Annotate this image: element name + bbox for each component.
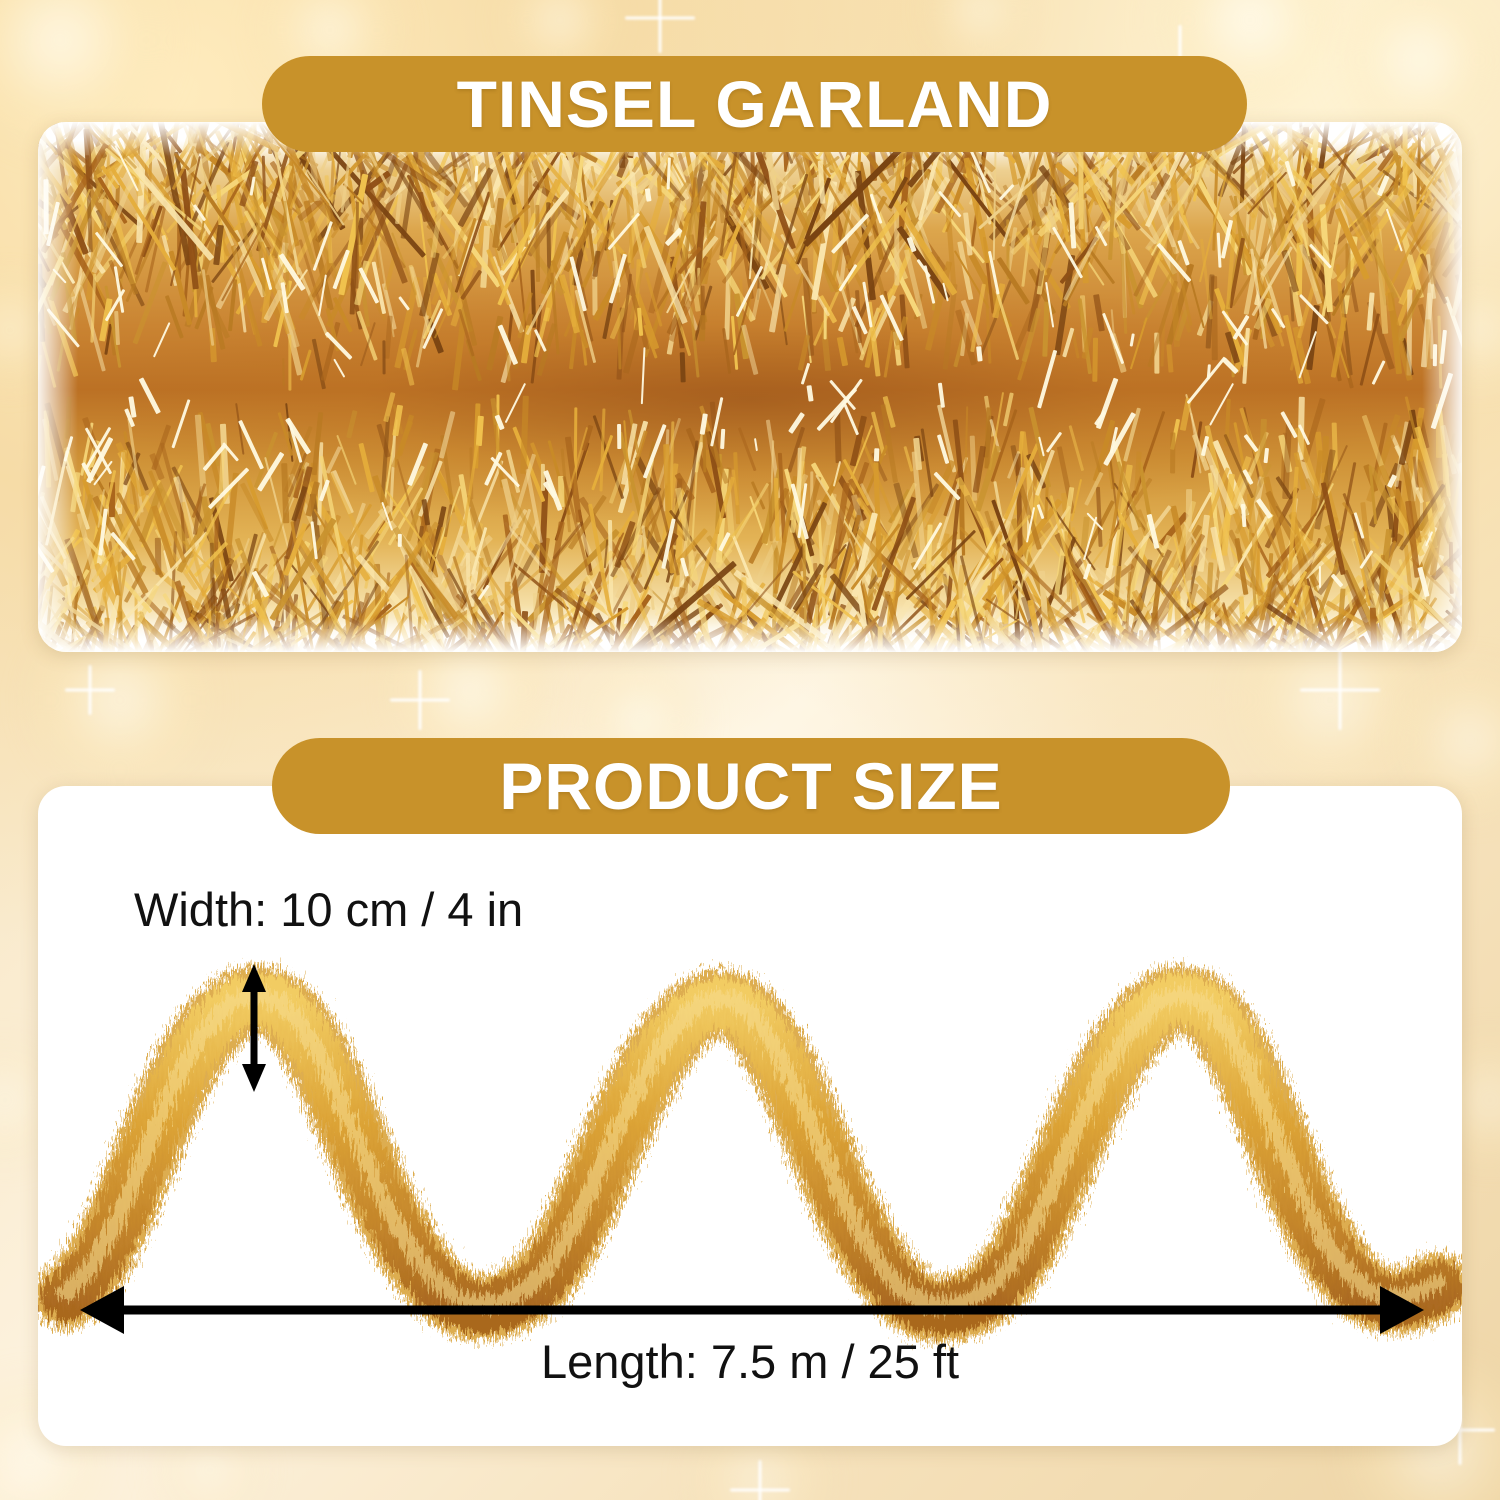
- section-header-tinsel-garland: TINSEL GARLAND: [262, 56, 1247, 152]
- width-arrow-head-bottom: [242, 1064, 266, 1092]
- size-diagram: Width: 10 cm / 4 in Length: 7.5 m / 25 f…: [38, 786, 1462, 1446]
- product-size-panel: Width: 10 cm / 4 in Length: 7.5 m / 25 f…: [38, 786, 1462, 1446]
- section-header-product-size-label: PRODUCT SIZE: [499, 748, 1002, 824]
- length-arrow-head-left: [80, 1286, 124, 1334]
- width-label: Width: 10 cm / 4 in: [134, 882, 523, 937]
- length-label: Length: 7.5 m / 25 ft: [38, 1334, 1462, 1389]
- tinsel-strands: [38, 122, 1462, 652]
- width-arrow-head-top: [242, 964, 266, 992]
- section-header-product-size: PRODUCT SIZE: [272, 738, 1230, 834]
- photo-fade-left: [38, 122, 78, 652]
- section-header-tinsel-garland-label: TINSEL GARLAND: [457, 66, 1053, 142]
- photo-fade-bottom: [38, 618, 1462, 652]
- tinsel-garland-panel: [38, 122, 1462, 652]
- product-infographic: TINSEL GARLAND: [0, 0, 1500, 1500]
- tinsel-closeup-photo: [38, 122, 1462, 652]
- length-arrow-head-right: [1380, 1286, 1424, 1334]
- photo-fade-right: [1422, 122, 1462, 652]
